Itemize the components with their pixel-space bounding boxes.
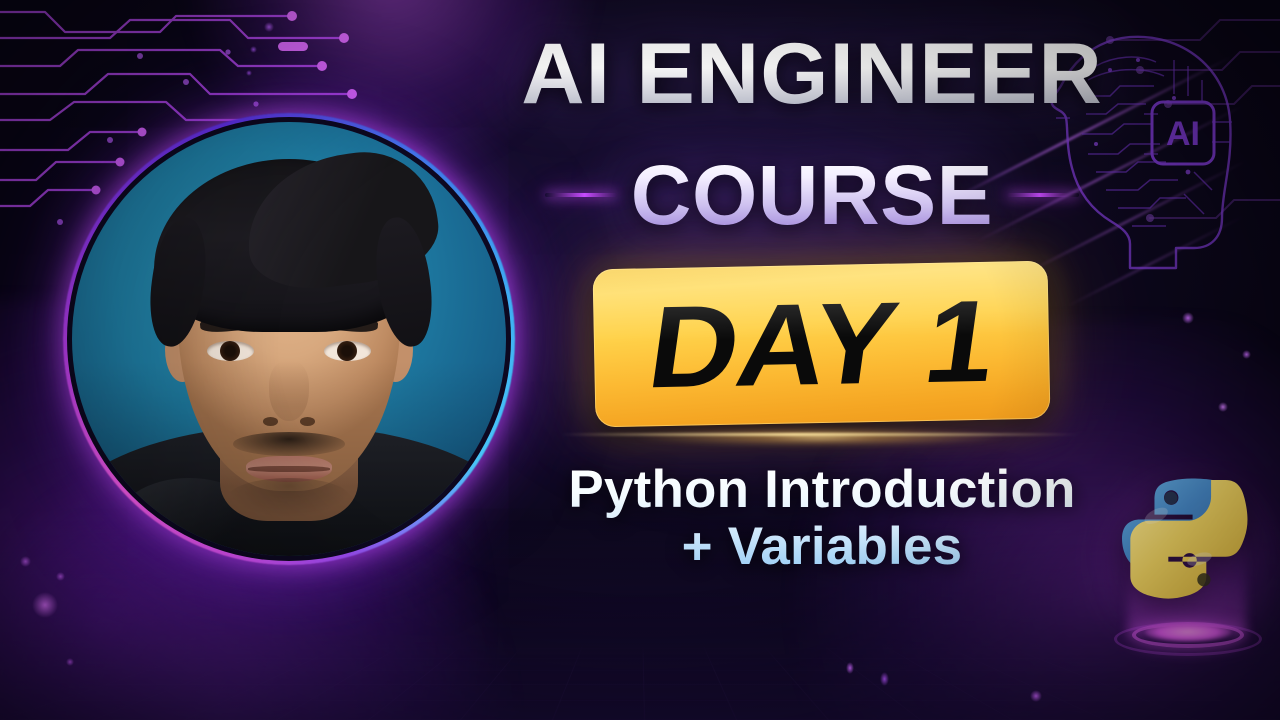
bokeh-particle (1182, 312, 1194, 324)
day-badge-label: DAY 1 (642, 283, 1001, 406)
badge-light-flare (560, 424, 1080, 450)
bokeh-particle (66, 658, 74, 666)
title-line-1: AI ENGINEER (506, 33, 1118, 116)
presenter-avatar (63, 113, 515, 565)
bokeh-particle (846, 662, 854, 674)
bokeh-particle (56, 572, 65, 581)
subtitle-line-2: + Variables (512, 519, 1132, 576)
bokeh-particle (246, 70, 252, 76)
python-logo-icon (1118, 470, 1258, 610)
bokeh-particle (250, 46, 257, 53)
bokeh-particle (20, 556, 31, 567)
ai-chip-label: AI (1166, 115, 1200, 153)
subtitle-line-1: Python Introduction (512, 462, 1132, 519)
day-badge: DAY 1 (593, 261, 1051, 428)
title-line-2-row: COURSE (482, 143, 1142, 247)
accent-line-right (1007, 193, 1079, 197)
bokeh-particle (1030, 690, 1042, 702)
badge-light-flare-core (560, 433, 1080, 436)
bokeh-particle (1218, 402, 1228, 412)
accent-line-left (545, 193, 617, 197)
title-line-2: COURSE (631, 155, 993, 236)
python-logo-group (1098, 462, 1276, 658)
bokeh-particle (880, 672, 889, 686)
subtitle: Python Introduction + Variables (512, 462, 1132, 575)
bokeh-particle (264, 22, 274, 32)
python-pedestal (1108, 602, 1268, 660)
bokeh-particle (32, 592, 58, 618)
youtube-thumbnail: AI A (0, 0, 1280, 720)
bokeh-particle (1242, 350, 1251, 359)
avatar-photo (72, 122, 506, 556)
